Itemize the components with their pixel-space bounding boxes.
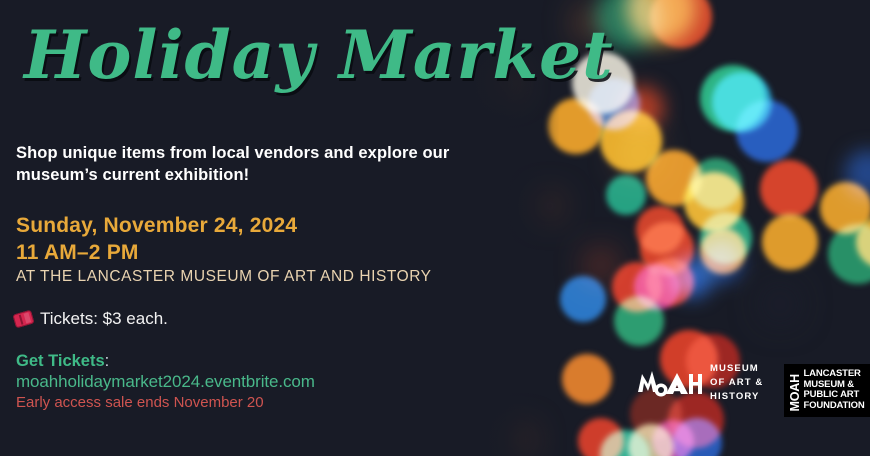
event-date: Sunday, November 24, 2024 — [16, 214, 297, 238]
page-title: Holiday Market — [24, 22, 614, 88]
subtitle-description: Shop unique items from local vendors and… — [16, 142, 466, 187]
moah-logo: MUSEUM OF ART & HISTORY — [636, 362, 763, 404]
foundation-text-lines: LANCASTER MUSEUM & PUBLIC ART FOUNDATION — [804, 369, 865, 412]
poster-content: Holiday Market Shop unique items from lo… — [0, 0, 870, 456]
foundation-vertical-text: MOAH — [789, 369, 802, 412]
holiday-market-poster: Holiday Market Shop unique items from lo… — [0, 0, 870, 456]
moah-mark-icon — [636, 362, 702, 404]
moah-wordmark-line-3: HISTORY — [710, 390, 763, 404]
event-time: 11 AM–2 PM — [16, 241, 139, 265]
foundation-line-4: FOUNDATION — [804, 401, 865, 412]
ticket-price-row: Tickets: $3 each. — [14, 309, 168, 329]
ticket-icon — [12, 310, 34, 329]
ticket-price-text: Tickets: $3 each. — [40, 309, 168, 329]
moah-foundation-logo: MOAH LANCASTER MUSEUM & PUBLIC ART FOUND… — [784, 364, 870, 417]
moah-wordmark-line-2: OF ART & — [710, 376, 763, 390]
event-venue: AT THE LANCASTER MUSEUM OF ART AND HISTO… — [16, 268, 432, 286]
get-tickets-line: Get Tickets: — [16, 352, 109, 371]
moah-wordmark-line-1: MUSEUM — [710, 362, 763, 376]
moah-wordmark: MUSEUM OF ART & HISTORY — [710, 362, 763, 403]
get-tickets-label: Get Tickets — [16, 352, 105, 370]
ticket-url-link[interactable]: moahholidaymarket2024.eventbrite.com — [16, 372, 315, 392]
get-tickets-colon: : — [105, 352, 110, 370]
early-access-notice: Early access sale ends November 20 — [16, 394, 264, 411]
